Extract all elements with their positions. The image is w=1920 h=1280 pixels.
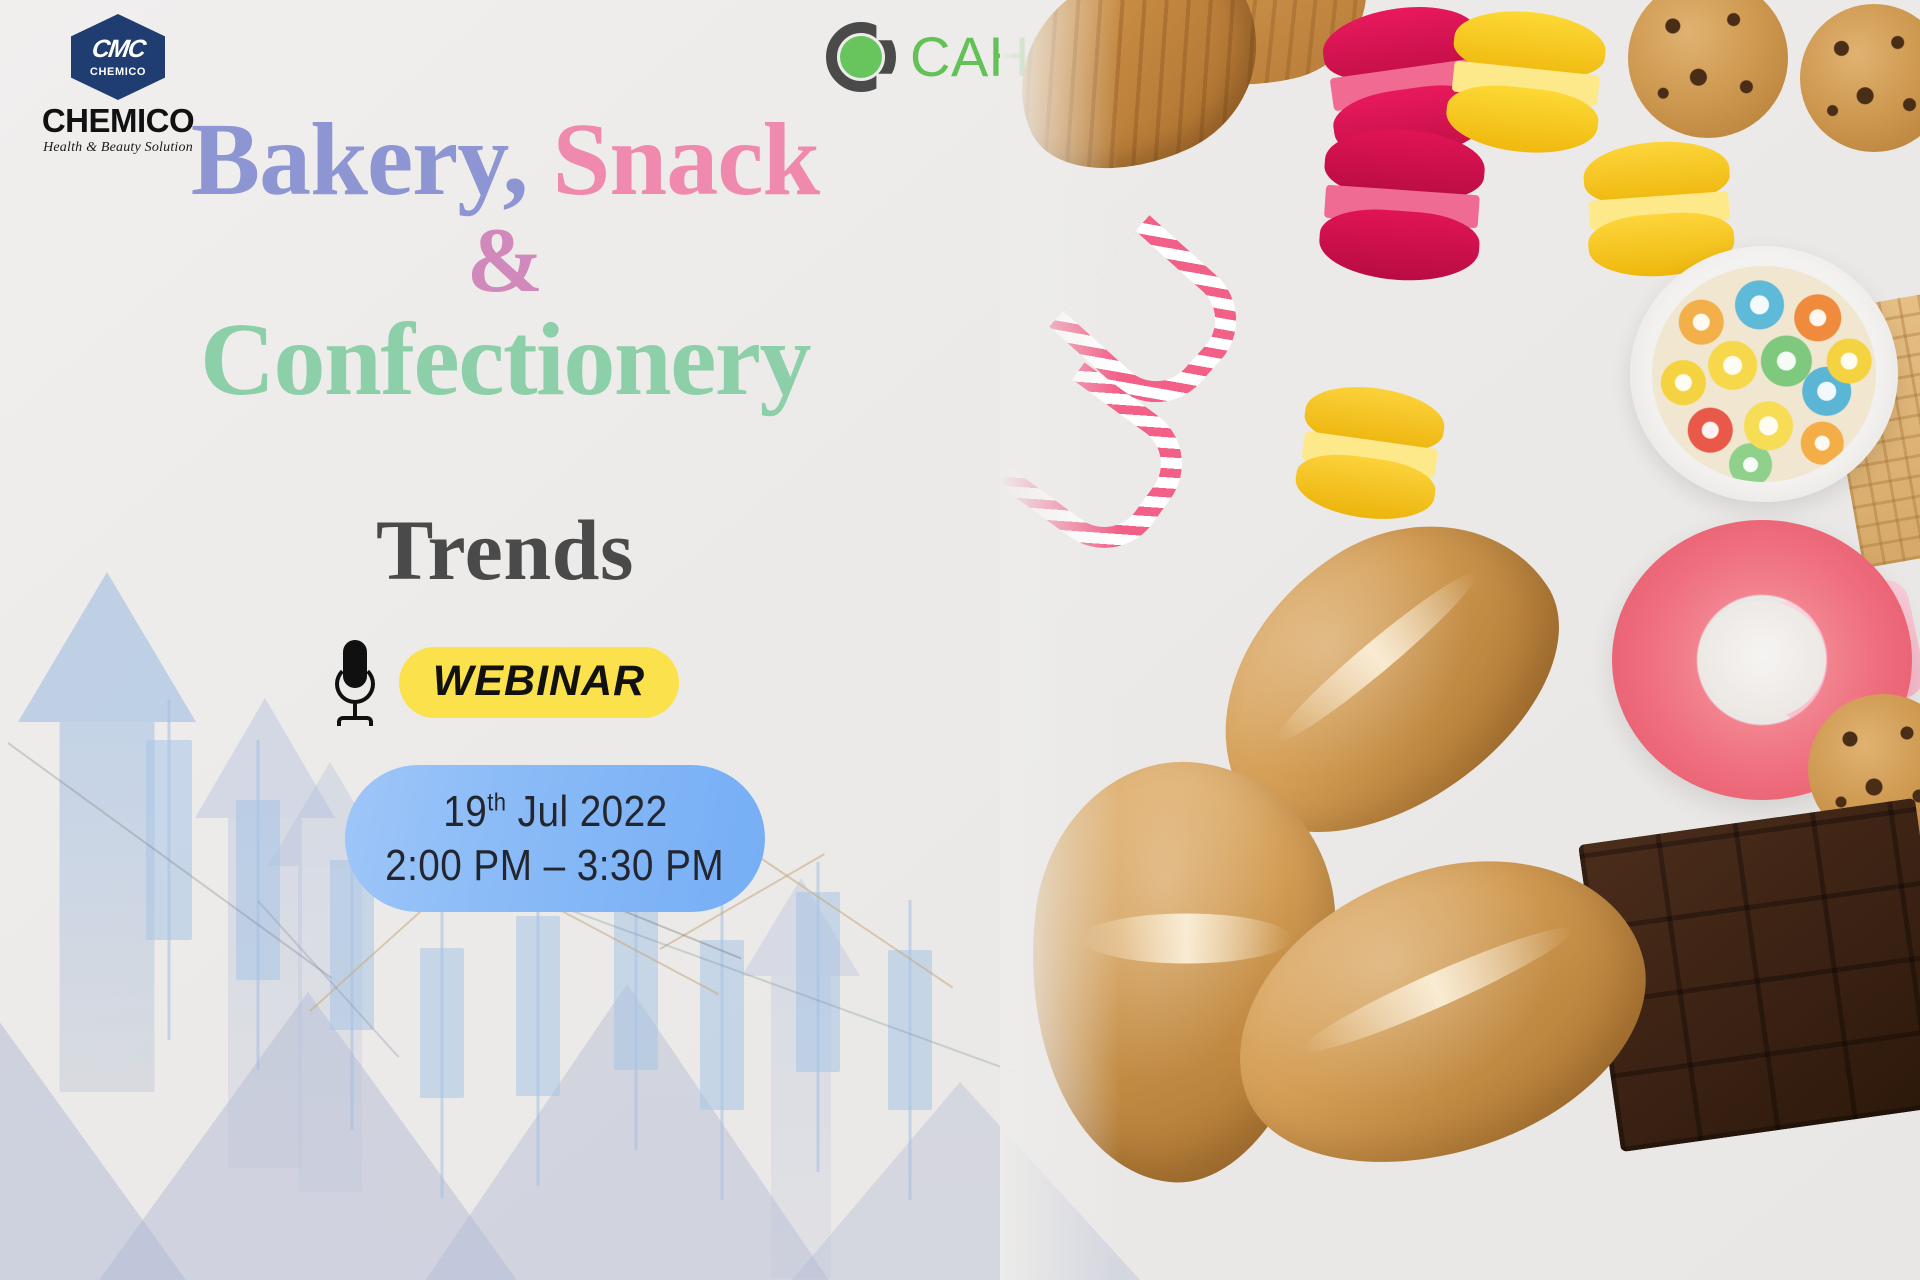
schedule-date-day: 19 <box>443 787 487 836</box>
schedule-date-ordinal: th <box>487 788 506 816</box>
macaron-yellow-1 <box>1443 4 1609 159</box>
poster-canvas: CMC CHEMICO CHEMICO Health & Beauty Solu… <box>0 0 1920 1280</box>
trend-line <box>257 900 399 1057</box>
candlestick-bar <box>796 862 840 1172</box>
mountain-shape-3 <box>0 900 1120 1280</box>
cereal-bowl-photo <box>1630 246 1898 502</box>
headline-ampersand: & <box>467 209 544 311</box>
food-collage <box>1000 0 1920 1280</box>
cookie-photo-2 <box>1800 4 1920 152</box>
chemico-cmc-monogram: CMC <box>90 37 146 62</box>
trend-line <box>7 742 332 979</box>
microphone-stem <box>353 700 357 716</box>
croissant-photo-1 <box>1000 0 1292 205</box>
arrow-shaft <box>60 722 155 1092</box>
webinar-pill: WEBINAR <box>399 647 679 718</box>
microphone-icon <box>331 638 377 726</box>
candlestick-bar <box>236 740 280 1070</box>
chemico-hexagon-label: CHEMICO <box>90 66 146 78</box>
webinar-label: WEBINAR <box>433 657 645 705</box>
candlestick-bar <box>146 700 192 1040</box>
headline-line-3: Confectionery <box>0 308 1010 412</box>
cahb-green-dot <box>840 36 882 78</box>
up-arrow-icon-2 <box>195 698 335 1168</box>
headline-word-confectionery: Confectionery <box>200 302 810 417</box>
headline-line-1: Bakery, Snack <box>0 108 1010 212</box>
arrow-shaft <box>771 976 831 1278</box>
cereal-loops <box>1652 266 1876 482</box>
cookie-photo-1 <box>1628 0 1788 138</box>
page-subtitle: Trends <box>0 500 1010 600</box>
headline-line-2: & <box>0 214 1010 306</box>
schedule-time: 2:00 PM – 3:30 PM <box>386 841 725 891</box>
macaron-pink-2 <box>1317 125 1487 286</box>
chemico-hexagon-icon: CMC CHEMICO <box>71 14 165 100</box>
microphone-arc <box>335 664 375 704</box>
headline-word-snack: Snack <box>553 102 820 217</box>
webinar-badge-row: WEBINAR <box>0 638 1010 726</box>
candlestick-bar <box>888 900 932 1200</box>
candlestick-bar <box>420 908 464 1198</box>
candlestick-bar <box>700 900 744 1200</box>
schedule-date: 19th Jul 2022 <box>443 787 667 837</box>
up-arrow-icon-4 <box>742 878 860 1278</box>
mountain-shape-2 <box>0 880 1100 1280</box>
arrow-shaft <box>298 866 362 1192</box>
microphone-base <box>337 716 373 726</box>
page-title: Bakery, Snack & Confectionery <box>0 108 1010 412</box>
macaron-yellow-3 <box>1292 379 1449 527</box>
arrow-head <box>742 878 860 976</box>
schedule-date-rest: Jul 2022 <box>506 787 667 836</box>
candlestick-bar <box>516 886 560 1186</box>
schedule-badge: 19th Jul 2022 2:00 PM – 3:30 PM <box>345 765 765 912</box>
headline-word-bakery: Bakery, <box>191 102 528 217</box>
arrow-shaft <box>228 818 302 1168</box>
cahb-circle-icon <box>826 22 896 92</box>
trend-line <box>761 858 953 988</box>
